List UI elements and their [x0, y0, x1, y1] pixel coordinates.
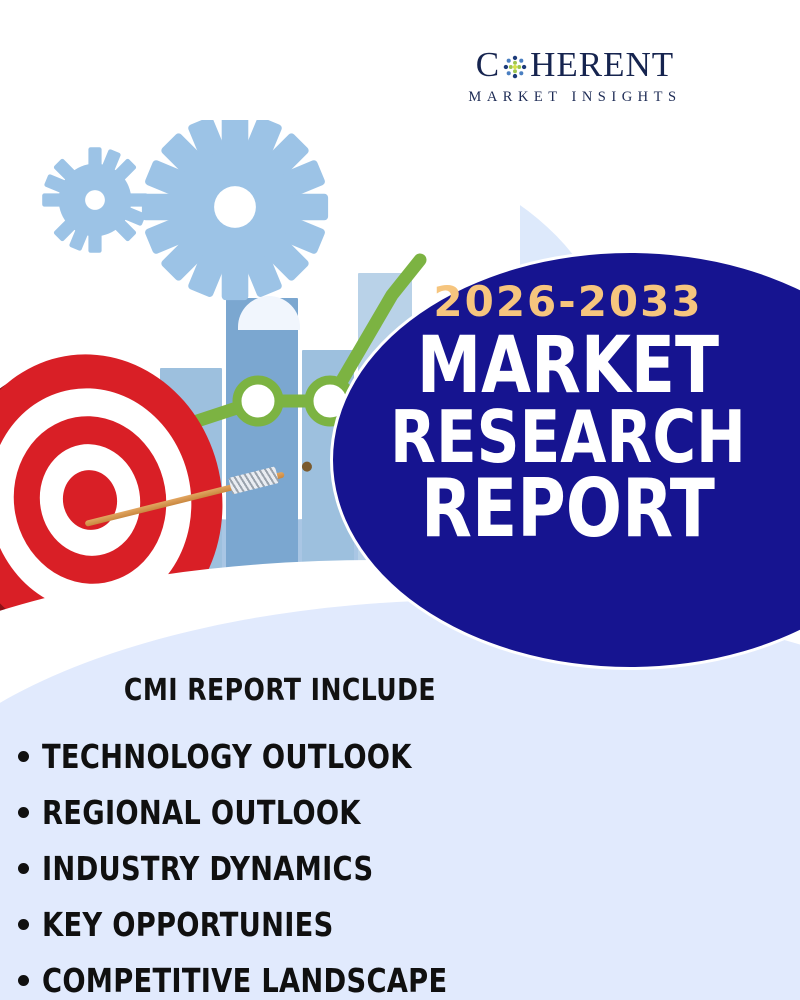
bullet-dot-icon — [18, 751, 29, 762]
report-include-item-label: KEY OPPORTUNIES — [42, 905, 334, 944]
hero-title-line-3: REPORT — [352, 471, 784, 547]
report-years: 2026-2033 — [333, 281, 800, 323]
report-include-item-label: REGIONAL OUTLOOK — [42, 793, 361, 832]
bullet-dot-icon — [18, 975, 29, 986]
brand-logo[interactable]: C — [377, 24, 773, 129]
report-include-list: TECHNOLOGY OUTLOOKREGIONAL OUTLOOKINDUST… — [18, 728, 618, 1000]
report-include-item: KEY OPPORTUNIES — [18, 896, 618, 952]
brand-name-prefix: C — [476, 47, 500, 82]
report-include-heading: CMI REPORT INCLUDE — [20, 673, 541, 708]
report-include-item: REGIONAL OUTLOOK — [18, 784, 618, 840]
bullet-dot-icon — [18, 807, 29, 818]
bullet-dot-icon — [18, 919, 29, 930]
brand-name: C — [476, 47, 674, 82]
report-include-item-label: COMPETITIVE LANDSCAPE — [42, 961, 447, 1000]
report-include-item-label: INDUSTRY DYNAMICS — [42, 849, 373, 888]
brand-name-suffix: HERENT — [530, 47, 674, 82]
hero-title-line-2: RESEARCH — [352, 403, 784, 471]
poster-canvas: C — [0, 0, 800, 1000]
report-include-item: INDUSTRY DYNAMICS — [18, 840, 618, 896]
report-include-item-label: TECHNOLOGY OUTLOOK — [42, 737, 412, 776]
hero-text-group: 2026-2033 MARKET RESEARCH REPORT — [333, 253, 800, 547]
brand-tagline: MARKET INSIGHTS — [468, 89, 681, 106]
report-include-item: COMPETITIVE LANDSCAPE — [18, 952, 618, 1000]
report-include-item: TECHNOLOGY OUTLOOK — [18, 728, 618, 784]
bullet-dot-icon — [18, 863, 29, 874]
dot-circle-logomark-icon — [501, 52, 529, 80]
hero-title-line-1: MARKET — [352, 329, 784, 403]
